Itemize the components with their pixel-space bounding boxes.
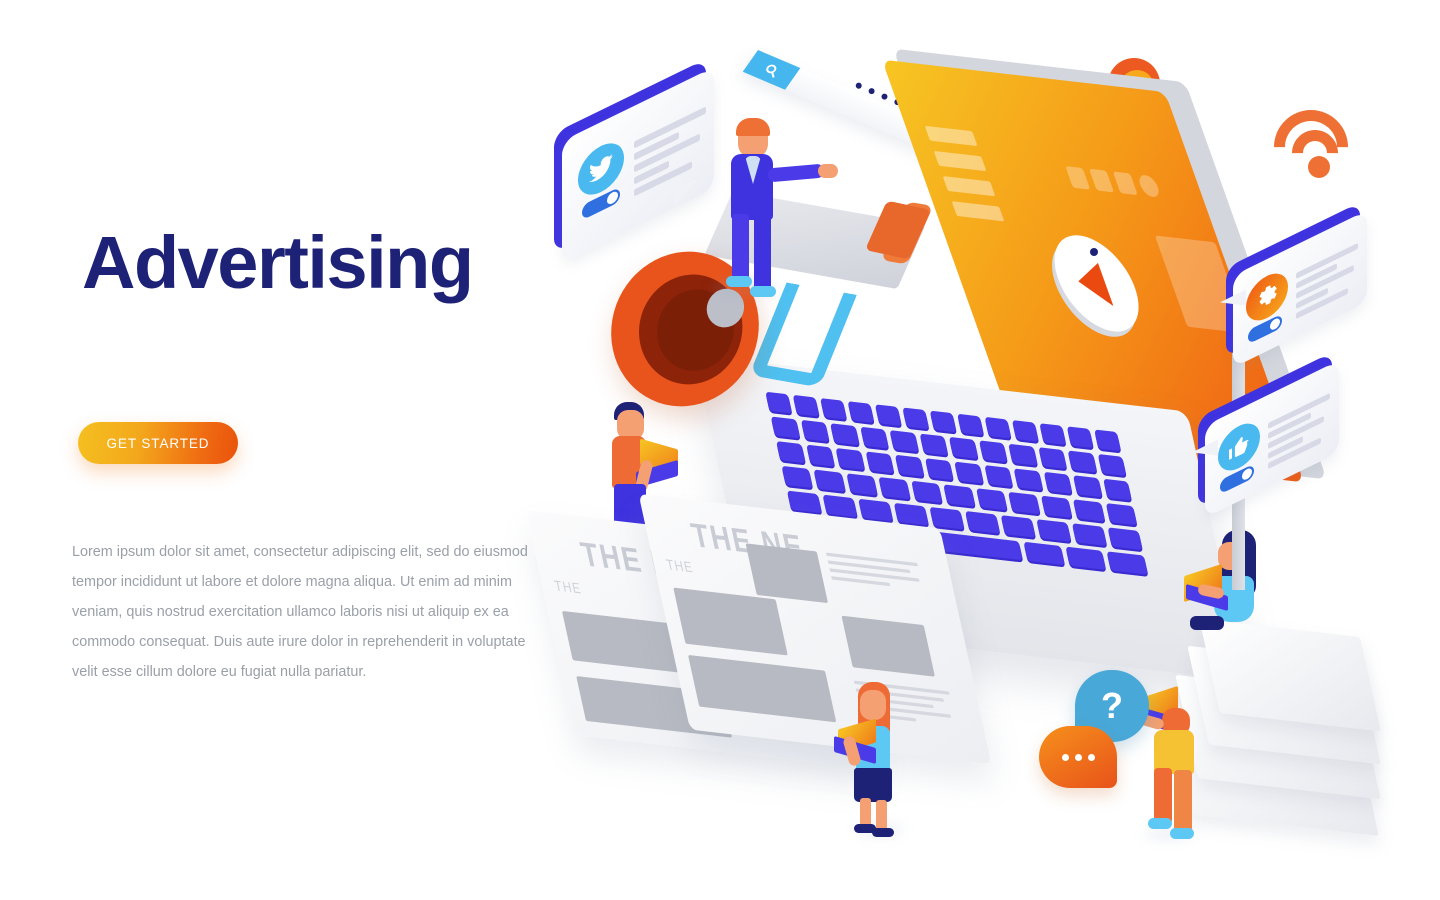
newspaper-front-image-b [745, 543, 828, 603]
newspaper-the-front: THE [665, 556, 695, 576]
newspaper-front: THE THE NE [638, 494, 991, 764]
screen-top-dots [1065, 166, 1170, 204]
play-icon[interactable] [1041, 231, 1152, 336]
bottom-leg-right [1174, 770, 1192, 832]
chat-bubbles-group: ? [1025, 670, 1165, 830]
newspaper-the-back: THE [553, 577, 583, 597]
businessman-arm [767, 164, 824, 183]
businessman-leg-left [732, 214, 749, 282]
newspaper-front-image-c [688, 655, 836, 722]
businessman-hair [736, 118, 770, 136]
newspaper-front-text-a [826, 553, 924, 595]
businessman-shoe-right [750, 286, 776, 297]
person-woman-newspaper [844, 678, 924, 838]
screen-menu-lines [925, 126, 1008, 232]
newspaper-front-image-d [841, 616, 935, 677]
get-started-button[interactable]: GET STARTED [78, 422, 238, 464]
hero-illustration: THE THE NEWS THE THE NE [520, 0, 1440, 900]
person-businessman [698, 110, 818, 310]
businessman-leg-right [754, 214, 771, 292]
newspaper-stack: THE THE NEWS THE THE NE [530, 500, 1050, 830]
woman-head [860, 690, 886, 720]
bottom-shoe-right [1170, 828, 1194, 839]
businessman-hand [818, 164, 838, 178]
newspaper-front-image-a [673, 588, 788, 656]
sitting-leg [1190, 616, 1224, 630]
dots-bubble-icon [1039, 726, 1117, 788]
woman-skirt [854, 768, 892, 802]
businessman-shoe-left [726, 276, 752, 287]
landing-page-hero: Advertising GET STARTED Lorem ipsum dolo… [0, 0, 1440, 900]
like-notification-card [1192, 382, 1342, 494]
woman-shoe-right [872, 828, 894, 837]
settings-notification-card [1220, 232, 1370, 344]
laptop-camera [1090, 248, 1098, 256]
page-title: Advertising [82, 226, 473, 300]
hero-content: Advertising GET STARTED Lorem ipsum dolo… [78, 0, 548, 900]
hero-description: Lorem ipsum dolor sit amet, consectetur … [72, 538, 542, 688]
